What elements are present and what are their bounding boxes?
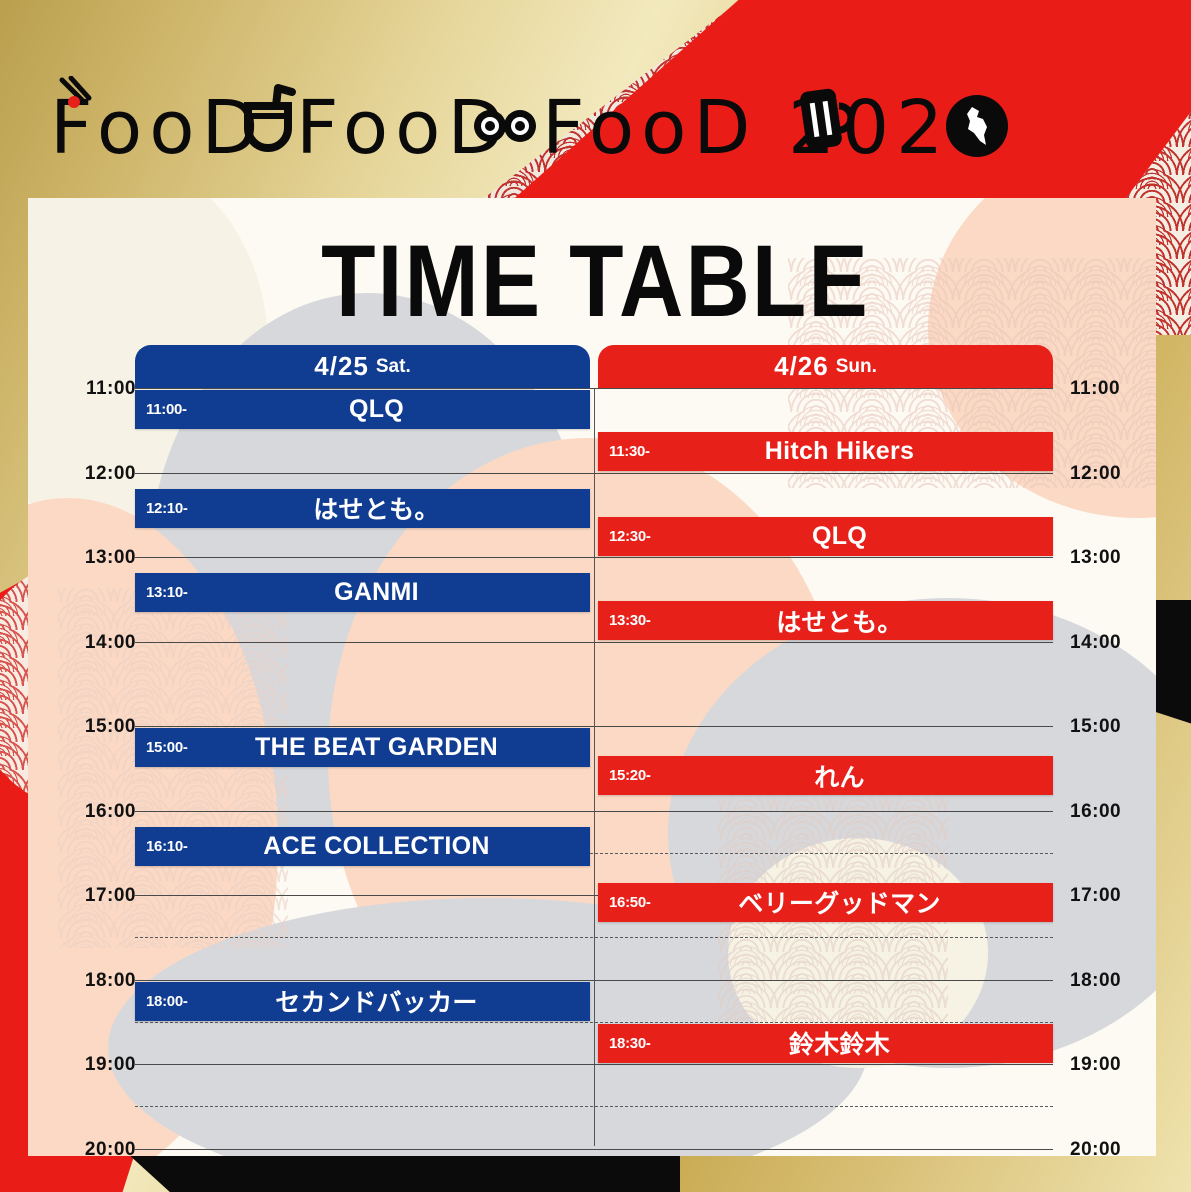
drink-cup-icon (238, 82, 298, 154)
schedule-slot[interactable]: 18:30-鈴木鈴木 (598, 1024, 1053, 1063)
slot-start-time: 13:30- (609, 612, 651, 629)
schedule-slot[interactable]: 15:20-れん (598, 756, 1053, 795)
schedule-slot[interactable]: 12:30-QLQ (598, 517, 1053, 556)
time-axis-label: 11:00 (66, 378, 136, 400)
prefecture-map-icon (946, 95, 1008, 157)
schedule-slot[interactable]: 13:10-GANMI (135, 573, 590, 612)
hour-gridline (135, 388, 1053, 389)
half-hour-gridline (135, 937, 1053, 938)
schedule-slot[interactable]: 11:00-QLQ (135, 390, 590, 429)
slot-artist-name: THE BEAT GARDEN (135, 733, 590, 762)
schedule-slot[interactable]: 11:30-Hitch Hikers (598, 432, 1053, 471)
hour-gridline (135, 473, 1053, 474)
slot-start-time: 16:10- (146, 838, 188, 855)
time-axis-label: 20:00 (1070, 1139, 1140, 1161)
time-axis-label: 14:00 (1070, 632, 1140, 654)
column-header-sunday[interactable]: 4/26 Sun. (598, 345, 1053, 388)
slot-start-time: 11:00- (146, 401, 187, 418)
schedule-slot[interactable]: 15:00-THE BEAT GARDEN (135, 728, 590, 767)
timetable-grid: 4/25 Sat. 4/26 Sun. 11:0011:0012:0012:00… (0, 0, 1191, 1192)
slot-start-time: 11:30- (609, 443, 650, 460)
time-axis-label: 16:00 (1070, 801, 1140, 823)
beer-mug-icon (795, 82, 855, 158)
slot-artist-name: はせとも。 (135, 490, 590, 526)
slot-start-time: 12:10- (146, 500, 188, 517)
slot-start-time: 16:50- (609, 894, 651, 911)
half-hour-gridline (135, 1022, 1053, 1023)
slot-artist-name: ACE COLLECTION (135, 832, 590, 861)
column-weekday-sunday: Sun. (836, 356, 877, 378)
time-axis-label: 16:00 (66, 801, 136, 823)
slot-artist-name: Hitch Hikers (598, 437, 1053, 466)
time-axis-label: 19:00 (1070, 1054, 1140, 1076)
time-axis-label: 13:00 (66, 547, 136, 569)
time-axis-label: 12:00 (66, 463, 136, 485)
time-axis-label: 17:00 (66, 885, 136, 907)
column-date-saturday: 4/25 (314, 351, 369, 382)
hour-gridline (135, 642, 1053, 643)
time-axis-label: 11:00 (1070, 378, 1140, 400)
column-divider (594, 388, 595, 1146)
slot-artist-name: れん (598, 758, 1053, 794)
time-axis-label: 14:00 (66, 632, 136, 654)
slot-artist-name: セカンドバッカー (135, 983, 590, 1019)
schedule-slot[interactable]: 12:10-はせとも。 (135, 489, 590, 528)
time-axis-label: 17:00 (1070, 885, 1140, 907)
hour-gridline (135, 1064, 1053, 1065)
time-axis-label: 18:00 (66, 970, 136, 992)
slot-artist-name: 鈴木鈴木 (598, 1025, 1053, 1061)
hour-gridline (135, 1149, 1053, 1150)
column-date-sunday: 4/26 (774, 351, 829, 382)
schedule-slot[interactable]: 16:50-ベリーグッドマン (598, 883, 1053, 922)
slot-artist-name: はせとも。 (598, 603, 1053, 639)
column-weekday-saturday: Sat. (376, 356, 411, 378)
column-header-saturday[interactable]: 4/25 Sat. (135, 345, 590, 388)
page-title: TIME TABLE (0, 222, 1191, 340)
time-axis-label: 15:00 (66, 716, 136, 738)
time-axis-label: 20:00 (66, 1139, 136, 1161)
slot-start-time: 18:00- (146, 993, 188, 1010)
schedule-slot[interactable]: 16:10-ACE COLLECTION (135, 827, 590, 866)
poster-root: FooD FooD FooD 2026 (0, 0, 1191, 1192)
schedule-slot[interactable]: 18:00-セカンドバッカー (135, 982, 590, 1021)
schedule-slot[interactable]: 13:30-はせとも。 (598, 601, 1053, 640)
hour-gridline (135, 557, 1053, 558)
time-axis-label: 19:00 (66, 1054, 136, 1076)
hour-gridline (135, 811, 1053, 812)
slot-artist-name: ベリーグッドマン (598, 884, 1053, 920)
slot-artist-name: QLQ (598, 522, 1053, 551)
slot-start-time: 15:00- (146, 739, 188, 756)
time-axis-label: 12:00 (1070, 463, 1140, 485)
slot-start-time: 12:30- (609, 528, 651, 545)
slot-start-time: 18:30- (609, 1035, 651, 1052)
time-axis-label: 13:00 (1070, 547, 1140, 569)
slot-start-time: 15:20- (609, 767, 651, 784)
slot-start-time: 13:10- (146, 584, 188, 601)
noodle-bowl-icon (58, 76, 104, 122)
slot-artist-name: GANMI (135, 578, 590, 607)
hour-gridline (135, 726, 1053, 727)
ramen-bowl-icon (470, 92, 540, 154)
hour-gridline (135, 980, 1053, 981)
half-hour-gridline (135, 1106, 1053, 1107)
slot-artist-name: QLQ (135, 395, 590, 424)
time-axis-label: 15:00 (1070, 716, 1140, 738)
time-axis-label: 18:00 (1070, 970, 1140, 992)
